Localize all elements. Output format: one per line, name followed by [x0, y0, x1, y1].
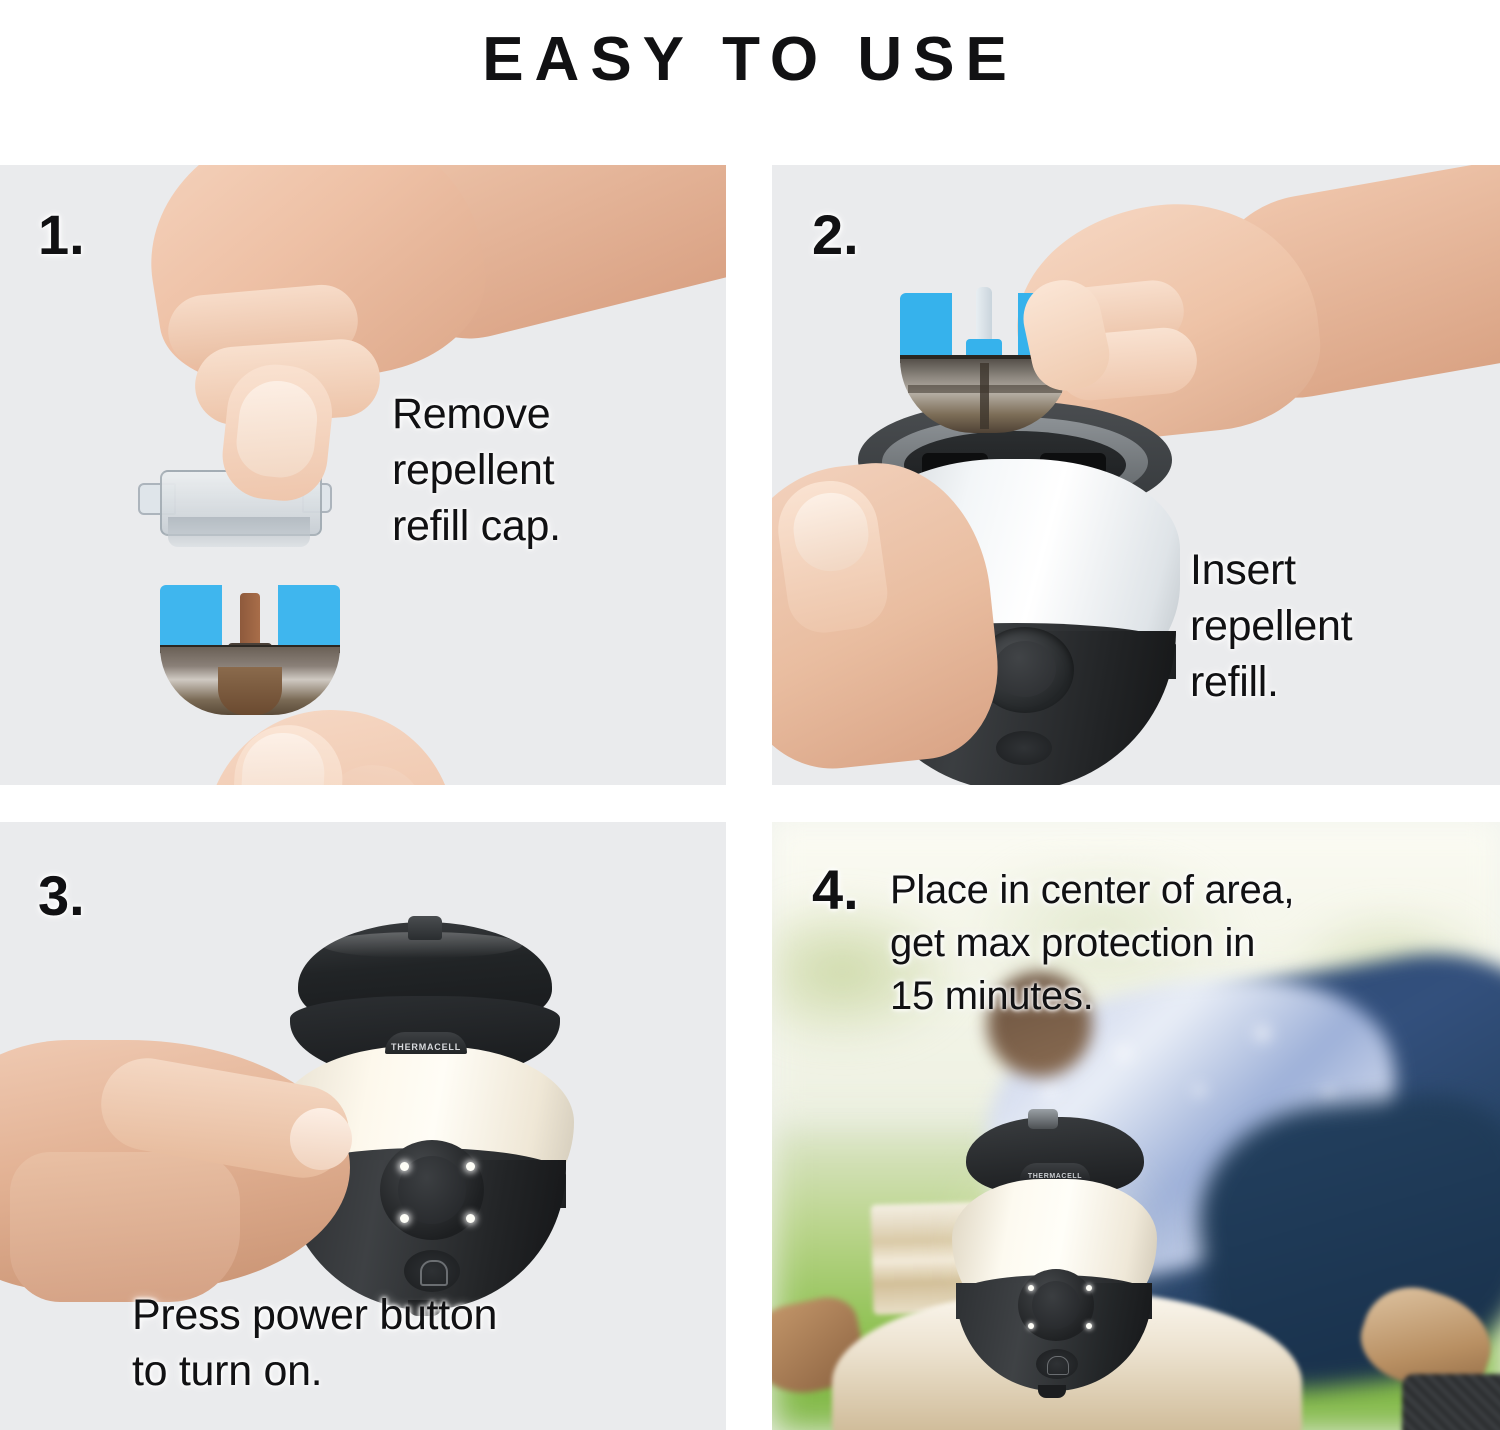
step-panel-4: THERMACELL 4. Place in center	[772, 822, 1500, 1430]
scene-mat	[1402, 1374, 1500, 1430]
led-indicator-2	[466, 1214, 475, 1223]
step-1-caption-line-3: refill cap.	[392, 499, 722, 555]
led-indicator-4-2	[1086, 1323, 1092, 1329]
steps-grid: 1. Remove repellent refill cap.	[0, 165, 1500, 1430]
step-4-caption-line-1: Place in center of area,	[890, 864, 1490, 916]
power-button-inner[interactable]	[994, 641, 1056, 697]
step-4-caption-line-3: 15 minutes.	[890, 970, 1490, 1022]
page-header: EASY TO USE	[0, 0, 1500, 120]
refill-divider-horizontal	[908, 385, 1062, 393]
step-number-2: 2.	[812, 207, 859, 263]
vent-glyph-icon-4	[1047, 1356, 1069, 1375]
refill-cap-shadow	[168, 517, 310, 547]
repeller-device-scene: THERMACELL	[952, 1117, 1157, 1392]
brand-badge: THERMACELL	[385, 1032, 467, 1054]
easy-to-use-infographic: EASY TO USE	[0, 0, 1500, 1430]
device-foot-4	[1038, 1385, 1066, 1398]
led-indicator-1	[466, 1162, 475, 1171]
vent-glyph-icon	[420, 1260, 448, 1286]
refill-tube	[976, 287, 992, 345]
refill-blue-tab-right	[278, 585, 340, 647]
led-indicator-4-3	[1028, 1323, 1034, 1329]
step-4-caption-line-2: get max protection in	[890, 917, 1490, 969]
step-1-caption-line-1: Remove	[392, 387, 692, 443]
step-1-caption-line-2: repellent	[392, 443, 712, 499]
refill-blue-tab-left	[160, 585, 222, 647]
device-top-knob-4	[1028, 1109, 1058, 1129]
led-indicator-4-1	[1086, 1285, 1092, 1291]
step-3-knuckles	[10, 1152, 240, 1302]
led-indicator-3	[400, 1214, 409, 1223]
power-button-inner-4[interactable]	[1032, 1281, 1080, 1329]
step-3-caption-line-1: Press power button	[132, 1288, 652, 1344]
step-number-4: 4.	[812, 862, 859, 918]
led-indicator-4	[400, 1162, 409, 1171]
step-3-caption-line-2: to turn on.	[132, 1344, 652, 1400]
device-top-knob	[408, 916, 442, 940]
step-2-caption-line-3: refill.	[1190, 655, 1490, 711]
step-panel-1: 1. Remove repellent refill cap.	[0, 165, 726, 785]
step-number-3: 3.	[38, 868, 85, 924]
step-panel-2: 2. Insert repellent refill.	[772, 165, 1500, 785]
device-vent-icon	[996, 731, 1052, 765]
led-indicator-4-4	[1028, 1285, 1034, 1291]
refill-blue-tab-left-2	[900, 293, 952, 359]
repellent-refill-cartridge	[160, 585, 340, 715]
page-title: EASY TO USE	[482, 29, 1018, 91]
refill-divider-vertical	[980, 363, 989, 429]
brand-name: THERMACELL	[391, 1042, 461, 1054]
step-panel-3: THERMACELL	[0, 822, 726, 1430]
step-2-caption-line-2: repellent	[1190, 599, 1490, 655]
step-2-caption-line-1: Insert	[1190, 543, 1480, 599]
step-number-1: 1.	[38, 207, 85, 263]
refill-inner-wing	[218, 667, 282, 715]
